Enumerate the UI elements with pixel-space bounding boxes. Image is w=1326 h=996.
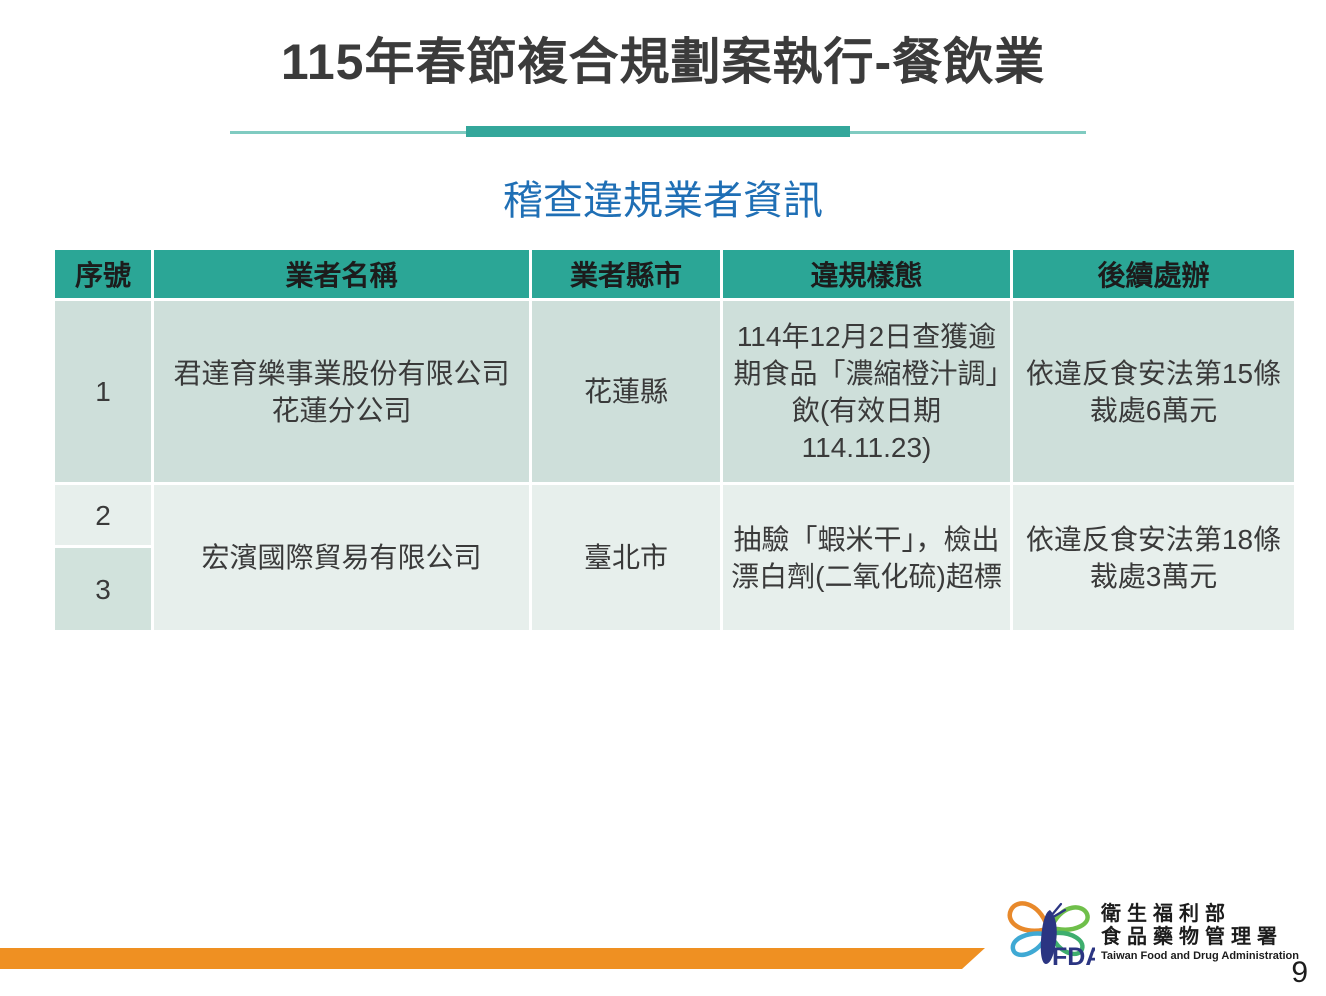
violation-table: 序號 業者名稱 業者縣市 違規樣態 後續處辦 1 君達育樂事業股份有限公司花蓮分… — [52, 247, 1297, 633]
table-row: 2 宏濱國際貿易有限公司 臺北市 抽驗「蝦米干」，檢出漂白劑(二氧化硫)超標 依… — [55, 485, 1294, 545]
table-header-serial: 序號 — [55, 250, 151, 298]
table-row: 1 君達育樂事業股份有限公司花蓮分公司 花蓮縣 114年12月2日查獲逾期食品「… — [55, 301, 1294, 482]
fda-logo: FDA 衛生福利部 食品藥物管理署 Taiwan Food and Drug A… — [1003, 893, 1295, 973]
table-header-business-city: 業者縣市 — [532, 250, 720, 298]
row-business-name: 君達育樂事業股份有限公司花蓮分公司 — [154, 301, 529, 482]
row-serial: 1 — [55, 301, 151, 482]
table-header-violation-type: 違規樣態 — [723, 250, 1010, 298]
row-violation-type: 114年12月2日查獲逾期食品「濃縮橙汁調」飲(有效日期114.11.23) — [723, 301, 1010, 482]
page-number: 9 — [1291, 956, 1308, 990]
fda-logo-text: 衛生福利部 食品藥物管理署 Taiwan Food and Drug Admin… — [1101, 903, 1299, 963]
fda-logo-line3: Taiwan Food and Drug Administration — [1101, 949, 1299, 963]
row-business-city: 臺北市 — [532, 485, 720, 630]
section-subtitle: 稽查違規業者資訊 — [0, 175, 1326, 227]
fda-logo-line1: 衛生福利部 — [1101, 903, 1299, 926]
row-serial: 3 — [55, 548, 151, 630]
row-followup-action: 依違反食安法第18條裁處3萬元 — [1013, 485, 1294, 630]
row-serial: 2 — [55, 485, 151, 545]
table-header-row: 序號 業者名稱 業者縣市 違規樣態 後續處辦 — [55, 250, 1294, 298]
fda-logo-line2: 食品藥物管理署 — [1101, 926, 1299, 949]
fda-butterfly-icon: FDA — [1003, 896, 1095, 970]
table-header-followup-action: 後續處辦 — [1013, 250, 1294, 298]
row-business-name: 宏濱國際貿易有限公司 — [154, 485, 529, 630]
footer-accent-bar — [0, 948, 985, 969]
row-business-city: 花蓮縣 — [532, 301, 720, 482]
svg-text:FDA: FDA — [1052, 943, 1095, 970]
row-followup-action: 依違反食安法第15條裁處6萬元 — [1013, 301, 1294, 482]
table-header-business-name: 業者名稱 — [154, 250, 529, 298]
divider-line-accent — [466, 126, 850, 137]
row-violation-type: 抽驗「蝦米干」，檢出漂白劑(二氧化硫)超標 — [723, 485, 1010, 630]
page-title: 115年春節複合規劃案執行-餐飲業 — [0, 30, 1326, 94]
